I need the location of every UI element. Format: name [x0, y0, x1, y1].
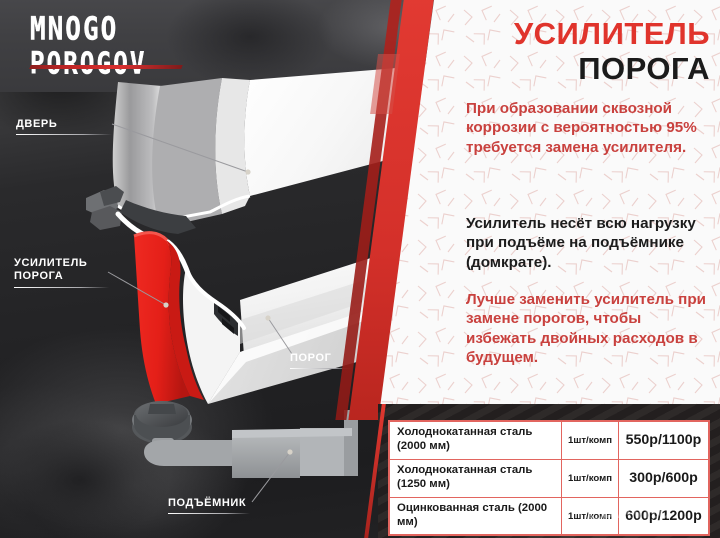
table-cell-price: 550р/1100р	[619, 422, 709, 460]
callout-door-label: ДВЕРЬ	[16, 118, 112, 131]
callout-reinforcement-rule	[14, 287, 109, 288]
callout-lift-rule	[168, 513, 250, 514]
avito-logo-icon-secondary	[602, 507, 613, 518]
callout-lift: ПОДЪЁМНИК	[168, 497, 250, 514]
paragraph-load: Усилитель несёт всю нагрузку при подъёме…	[466, 214, 712, 272]
table-cell-name: Оцинкованная сталь (2000 мм)	[390, 497, 562, 535]
callout-door-rule	[16, 134, 112, 135]
page-title-secondary: ПОРОГА	[455, 53, 710, 85]
page-title-primary: УСИЛИТЕЛЬ	[455, 18, 710, 50]
avito-watermark-label: Avito	[617, 500, 671, 524]
table-row: Холоднокатанная сталь (2000 мм) 1шт/комп…	[390, 422, 709, 460]
callout-reinforcement: УСИЛИТЕЛЬ ПОРОГА	[14, 257, 109, 288]
brand-logo-underline	[29, 65, 183, 69]
page-title: УСИЛИТЕЛЬ ПОРОГА	[455, 18, 710, 84]
callout-door: ДВЕРЬ	[16, 118, 112, 135]
paragraph-recommendation: Лучше заменить усилитель при замене поро…	[466, 290, 712, 367]
table-cell-qty: 1шт/комп	[562, 422, 619, 460]
paragraph-corrosion: При образовании сквозной коррозии с веро…	[466, 99, 712, 157]
callout-lift-label: ПОДЪЁМНИК	[168, 497, 250, 510]
brand-logo: MNOGO POROGOV	[30, 14, 195, 70]
brand-logo-line1: MNOGO	[30, 14, 195, 46]
avito-watermark: Avito	[588, 500, 671, 524]
table-cell-price: 300р/600р	[619, 459, 709, 497]
table-cell-qty: 1шт/комп	[562, 459, 619, 497]
table-row: Холоднокатанная сталь (1250 мм) 1шт/комп…	[390, 459, 709, 497]
table-cell-name: Холоднокатанная сталь (2000 мм)	[390, 422, 562, 460]
promo-card: ДВЕРЬ УСИЛИТЕЛЬ ПОРОГА ПОРОГ ПОДЪЁМНИК M…	[0, 0, 720, 538]
callout-reinforcement-label: УСИЛИТЕЛЬ ПОРОГА	[14, 257, 109, 284]
table-cell-name: Холоднокатанная сталь (1250 мм)	[390, 459, 562, 497]
